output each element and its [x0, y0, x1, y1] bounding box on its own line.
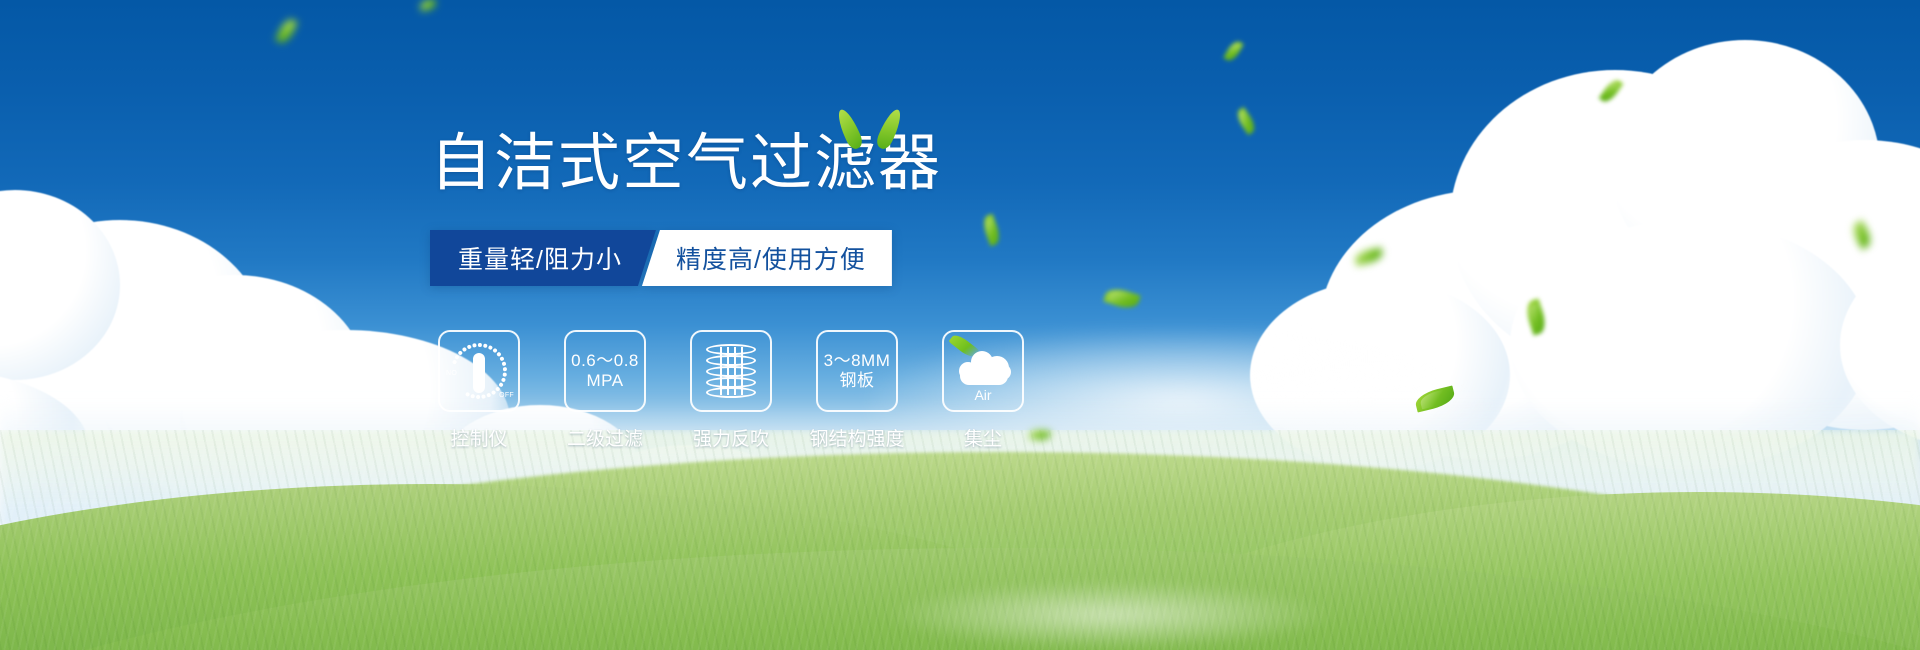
pressure-line-1: 0.6～0.8	[571, 351, 639, 371]
feature-item-dust[interactable]: Air 集尘	[942, 330, 1024, 451]
badge-segment-left: 重量轻/阻力小	[430, 230, 656, 286]
product-banner: 自洁式空气过滤器 重量轻/阻力小 精度高/使用方便	[0, 0, 1920, 650]
pressure-text-icon: 0.6～0.8 MPA	[571, 351, 639, 391]
air-label: Air	[951, 387, 1015, 403]
steel-line-1: 3～8MM	[824, 351, 891, 371]
feature-icon-box: 3～8MM 钢板	[816, 330, 898, 412]
feature-caption: 控制仪	[450, 424, 507, 451]
feature-icon-box: NO OFF	[438, 330, 520, 412]
cloud-air-icon: Air	[951, 342, 1015, 400]
coil-icon	[702, 342, 760, 400]
feature-badge: 重量轻/阻力小 精度高/使用方便	[430, 230, 892, 286]
badge-segment-right: 精度高/使用方便	[642, 230, 892, 286]
feature-item-controller[interactable]: NO OFF 控制仪	[438, 330, 520, 451]
feature-icon-row: NO OFF 控制仪 0.6～0.8 MPA 二级过滤	[438, 330, 1024, 451]
feature-caption: 强力反吹	[693, 424, 769, 451]
banner-content: 自洁式空气过滤器 重量轻/阻力小 精度高/使用方便	[0, 0, 1920, 650]
feature-item-filtration[interactable]: 0.6～0.8 MPA 二级过滤	[564, 330, 646, 451]
feature-caption: 集尘	[964, 424, 1002, 451]
pressure-line-2: MPA	[571, 371, 639, 391]
feature-icon-box	[690, 330, 772, 412]
gauge-icon: NO OFF	[448, 340, 510, 402]
feature-item-blowback[interactable]: 强力反吹	[690, 330, 772, 451]
steel-line-2: 钢板	[824, 371, 891, 391]
gauge-label-off: OFF	[499, 392, 514, 399]
feature-icon-box: Air	[942, 330, 1024, 412]
feature-caption: 二级过滤	[567, 424, 643, 451]
title-leaf-icon	[838, 106, 908, 152]
feature-item-steel[interactable]: 3～8MM 钢板 钢结构强度	[816, 330, 898, 451]
steel-text-icon: 3～8MM 钢板	[824, 351, 891, 391]
feature-icon-box: 0.6～0.8 MPA	[564, 330, 646, 412]
gauge-label-on: NO	[446, 370, 457, 377]
feature-caption: 钢结构强度	[810, 424, 905, 451]
